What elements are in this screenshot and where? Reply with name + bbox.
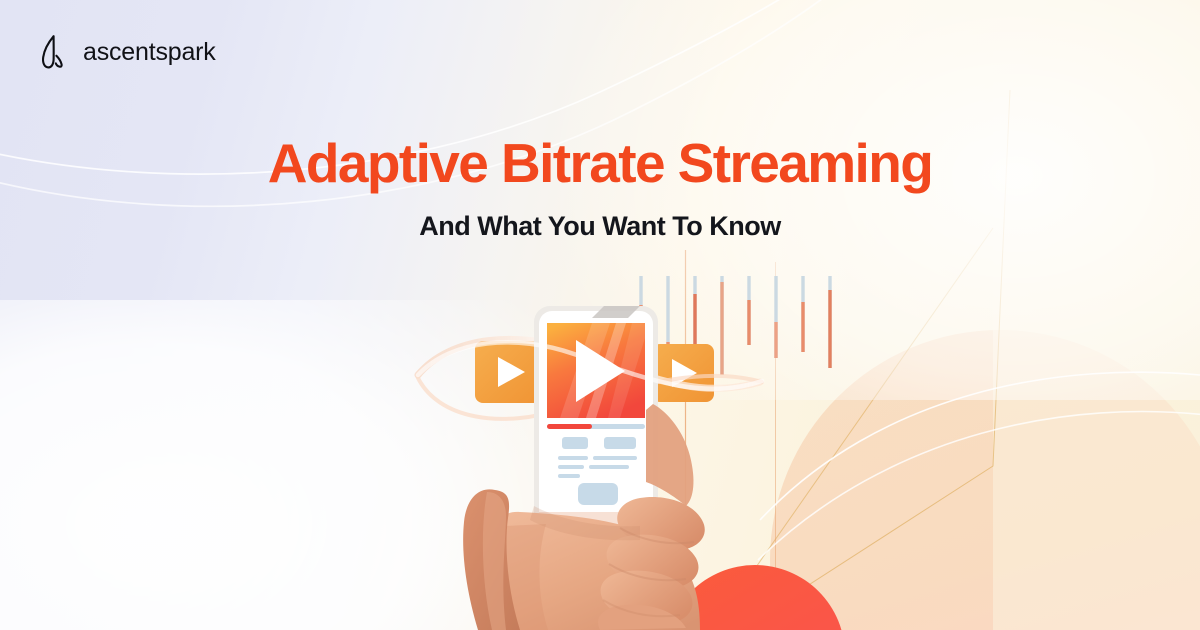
brand-logo[interactable]: ascentspark bbox=[36, 34, 216, 70]
phone-action-button bbox=[578, 483, 618, 505]
page-title: Adaptive Bitrate Streaming bbox=[0, 133, 1200, 193]
hero-banner: ascentspark Adaptive Bitrate Streaming A… bbox=[0, 0, 1200, 630]
progress-fill bbox=[547, 424, 592, 429]
streaming-illustration bbox=[0, 0, 1200, 630]
brand-name: ascentspark bbox=[83, 38, 216, 67]
play-tile-left bbox=[475, 341, 541, 403]
ascentspark-logo-mark bbox=[36, 34, 70, 70]
page-subtitle: And What You Want To Know bbox=[0, 209, 1200, 243]
play-tile-right bbox=[652, 344, 714, 402]
